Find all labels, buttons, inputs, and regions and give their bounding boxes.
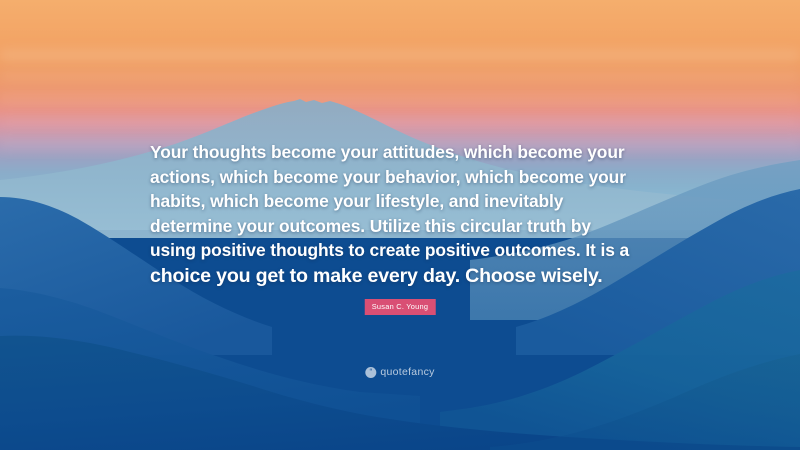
quote-line: using positive thoughts to create positi…: [150, 238, 656, 263]
quote-text-block: Your thoughts become your attitudes, whi…: [150, 140, 656, 290]
quotefancy-logo-glyph: “: [369, 369, 372, 375]
quotefancy-logo-icon: “: [365, 367, 376, 378]
quotefancy-brand-label: quotefancy: [380, 366, 434, 378]
quote-line: habits, which become your lifestyle, and…: [150, 189, 656, 214]
quote-line: choice you get to make every day. Choose…: [150, 263, 656, 290]
quotefancy-watermark[interactable]: “ quotefancy: [365, 366, 434, 378]
author-badge[interactable]: Susan C. Young: [365, 299, 436, 315]
quote-line: actions, which become your behavior, whi…: [150, 165, 656, 190]
quote-poster: Your thoughts become your attitudes, whi…: [0, 0, 800, 450]
sky-haze-band: [0, 74, 800, 79]
quote-line: determine your outcomes. Utilize this ci…: [150, 214, 656, 239]
sky-haze-band: [0, 52, 800, 59]
quote-line: Your thoughts become your attitudes, whi…: [150, 140, 656, 165]
